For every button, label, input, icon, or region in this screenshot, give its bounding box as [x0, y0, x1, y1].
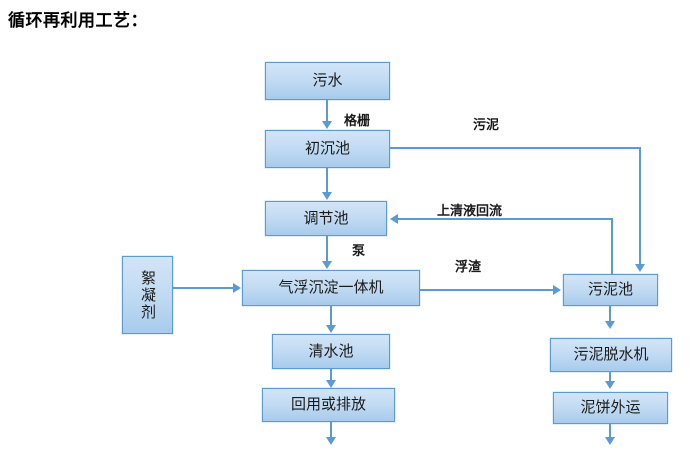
- flowchart-canvas: 循环再利用工艺： 格栅 污泥 上清液回流 泵 浮渣 污水 初沉池 调节池: [0, 0, 700, 450]
- edge-label-screen: 格栅: [344, 110, 370, 129]
- edge-label-pump: 泵: [352, 240, 365, 259]
- node-cake-transport[interactable]: 泥饼外运: [553, 392, 668, 424]
- connector-regulating-to-daf: [326, 236, 328, 262]
- connector-reuse-outflow: [330, 422, 332, 438]
- arrowhead-flocculant-to-daf: [233, 283, 241, 293]
- arrowhead-primary-to-sludge: [635, 264, 645, 272]
- edge-label-sludge: 污泥: [473, 114, 499, 133]
- connector-primary-to-sludge-horizontal: [390, 147, 641, 149]
- node-clean-water-tank[interactable]: 清水池: [272, 334, 390, 369]
- edge-label-supernatant: 上清液回流: [437, 200, 502, 219]
- node-daf-unit[interactable]: 气浮沉淀一体机: [242, 270, 420, 306]
- arrowhead-regulating-to-daf: [322, 261, 332, 269]
- node-regulating-tank[interactable]: 调节池: [265, 201, 387, 236]
- connector-cake-outflow: [609, 424, 611, 438]
- arrowhead-primary-to-regulating: [322, 192, 332, 200]
- connector-sludge-to-regulating-horizontal: [398, 218, 613, 220]
- arrowhead-daf-to-sludge-tank: [553, 285, 561, 295]
- node-reuse-discharge[interactable]: 回用或排放: [262, 388, 395, 422]
- page-title: 循环再利用工艺：: [8, 6, 148, 31]
- arrowhead-wastewater-to-primary: [322, 121, 332, 129]
- arrowhead-daf-to-clean-water: [326, 325, 336, 333]
- arrowhead-sludge-tank-to-dewaterer: [605, 321, 615, 329]
- node-primary-tank[interactable]: 初沉池: [265, 130, 390, 168]
- node-sludge-dewaterer[interactable]: 污泥脱水机: [550, 338, 672, 372]
- connector-wastewater-to-primary: [326, 100, 328, 122]
- arrowhead-reuse-outflow: [326, 437, 336, 445]
- node-flocculant[interactable]: 絮凝剂: [122, 256, 173, 334]
- arrowhead-dewaterer-to-cake: [605, 381, 615, 389]
- arrowhead-clean-water-to-reuse: [326, 380, 336, 388]
- connector-primary-to-sludge-vertical: [639, 147, 641, 265]
- arrowhead-cake-outflow: [605, 437, 615, 445]
- connector-daf-to-sludge-tank: [420, 289, 554, 291]
- arrowhead-sludge-to-regulating: [390, 214, 398, 224]
- edge-label-scum: 浮渣: [455, 256, 481, 275]
- connector-sludge-to-regulating-vertical: [611, 218, 613, 275]
- node-wastewater[interactable]: 污水: [265, 62, 390, 100]
- node-sludge-tank[interactable]: 污泥池: [563, 274, 658, 306]
- connector-flocculant-to-daf: [173, 287, 234, 289]
- connector-sludge-tank-to-dewaterer: [609, 306, 611, 322]
- connector-daf-to-clean-water: [330, 306, 332, 326]
- connector-primary-to-regulating: [326, 168, 328, 193]
